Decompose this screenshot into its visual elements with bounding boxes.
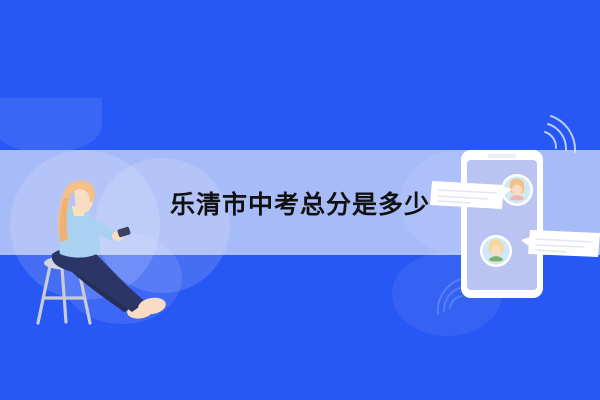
page-title: 乐清市中考总分是多少 bbox=[0, 150, 600, 255]
banner-canvas: 乐清市中考总分是多少 bbox=[0, 0, 600, 400]
signal-arcs-top-right bbox=[545, 116, 575, 152]
